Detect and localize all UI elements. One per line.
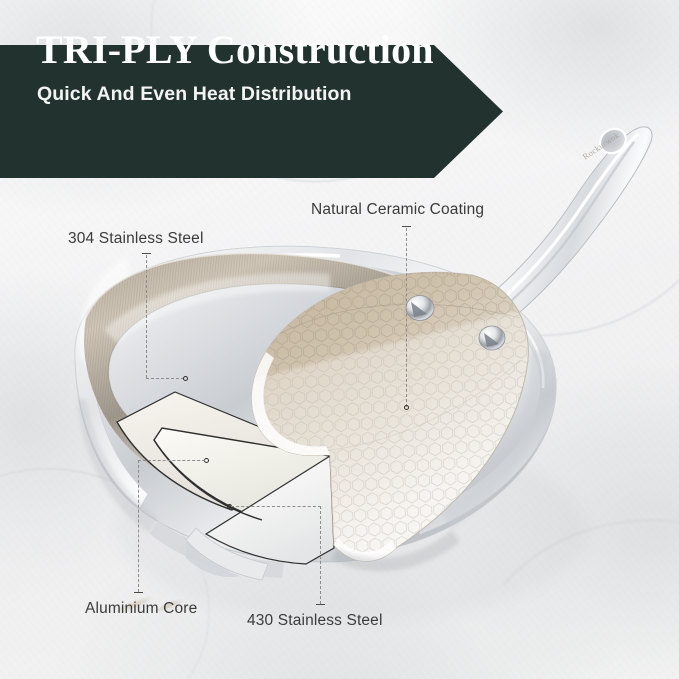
leader-line-304-vertical (146, 255, 147, 378)
infographic-canvas: Rockurwok (0, 0, 679, 679)
callout-label-304-stainless-steel: 304 Stainless Steel (68, 230, 204, 248)
callout-marker-304 (183, 376, 188, 381)
callout-tick-430 (316, 604, 325, 605)
callout-label-aluminium-core: Aluminium Core (85, 600, 197, 618)
leader-line-ceramic-vertical (406, 228, 407, 407)
leader-line-430-vertical (320, 506, 321, 604)
callout-tick-ceramic (402, 226, 411, 227)
callout-tick-aluminium (134, 592, 143, 593)
callout-tick-304 (142, 253, 151, 254)
banner-subtitle: Quick And Even Heat Distribution (37, 83, 352, 106)
callout-marker-ceramic (404, 405, 409, 410)
leader-line-aluminium-vertical (138, 460, 139, 592)
banner-title: TRI-PLY Construction (36, 26, 434, 73)
leader-line-430-horizontal (231, 506, 321, 507)
rivet (406, 296, 434, 321)
callout-label-natural-ceramic-coating: Natural Ceramic Coating (311, 201, 484, 219)
callout-label-430-stainless-steel: 430 Stainless Steel (247, 612, 383, 630)
leader-line-aluminium-horizontal (138, 460, 205, 461)
leader-line-304-horizontal (146, 378, 184, 379)
rivet (479, 326, 505, 350)
